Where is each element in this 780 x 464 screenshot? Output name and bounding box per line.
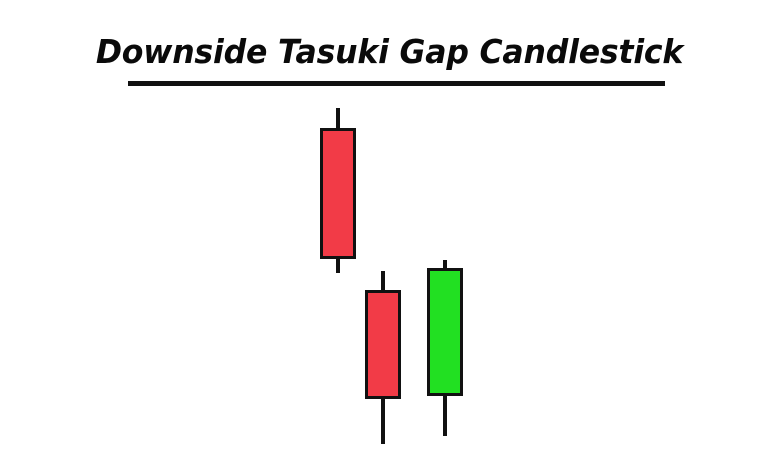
candlestick-2-lower-wick	[381, 395, 385, 444]
candlestick-2-body	[365, 290, 401, 399]
candlestick-1-upper-wick	[336, 108, 340, 130]
candlestick-3-body	[427, 268, 463, 396]
candlestick-plot-area	[0, 0, 780, 464]
candlestick-pattern-diagram: Downside Tasuki Gap Candlestick	[0, 0, 780, 464]
candlestick-2-upper-wick	[381, 271, 385, 292]
candlestick-3-lower-wick	[443, 392, 447, 436]
candlestick-1-body	[320, 128, 356, 259]
